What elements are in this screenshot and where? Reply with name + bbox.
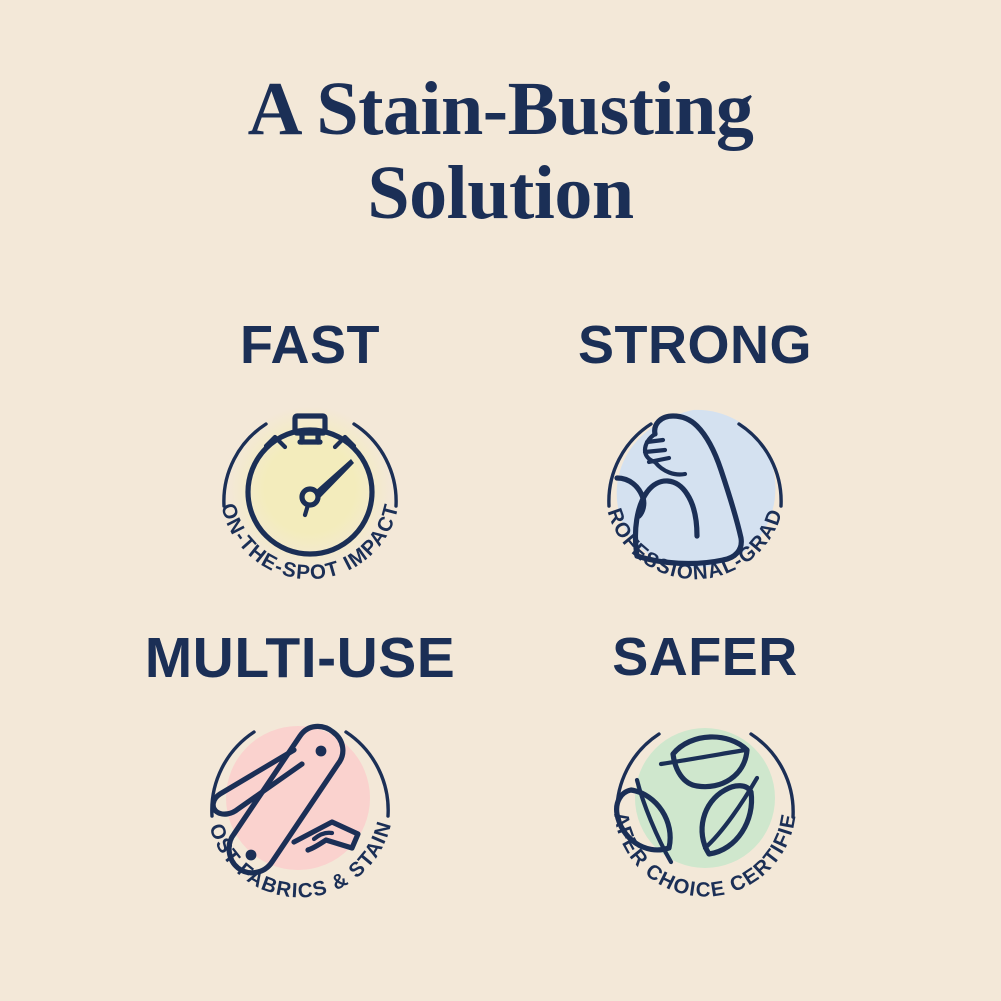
badge-heading-safer: SAFER bbox=[505, 630, 905, 684]
badge-heading-strong: STRONG bbox=[495, 318, 895, 372]
page-title: A Stain-Busting Solution bbox=[0, 72, 1001, 231]
badge-mark-safer: SAFER CHOICE CERTIFIED bbox=[595, 692, 815, 922]
benefit-badge-grid: FAST bbox=[0, 318, 1001, 958]
badge-mark-multi-use: MOST FABRICS & STAINS bbox=[190, 692, 410, 922]
benefit-badge-fast[interactable]: FAST bbox=[110, 318, 510, 628]
badge-heading-multi-use: MULTI-USE bbox=[100, 630, 500, 687]
page-title-line-1: A Stain-Busting bbox=[0, 72, 1001, 146]
badge-mark-strong: PROFESSIONAL-GRADE bbox=[585, 380, 805, 610]
poster-canvas: A Stain-Busting Solution FAST bbox=[0, 0, 1001, 1001]
benefit-badge-multi-use[interactable]: MULTI-USE bbox=[100, 630, 500, 940]
benefit-badge-safer[interactable]: SAFER bbox=[505, 630, 905, 940]
benefit-badge-strong[interactable]: STRONG bbox=[495, 318, 895, 628]
page-title-line-2: Solution bbox=[0, 156, 1001, 230]
badge-heading-fast: FAST bbox=[110, 318, 510, 372]
badge-mark-fast: ON-THE-SPOT IMPACT bbox=[200, 380, 420, 610]
